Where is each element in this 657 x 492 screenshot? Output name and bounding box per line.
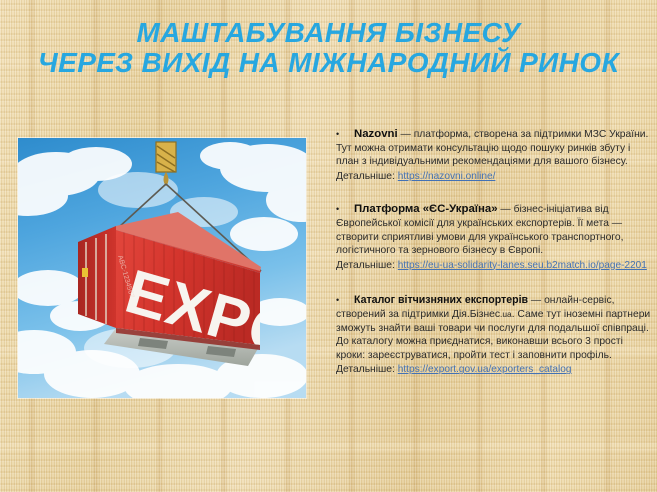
bullet-marker-icon: • bbox=[336, 203, 354, 217]
bullet-marker-icon: • bbox=[336, 128, 354, 142]
list-item: •Платформа «ЄС-Україна» — бізнес-ініціат… bbox=[336, 203, 654, 272]
detail-line: Детальніше: https://export.gov.ua/export… bbox=[336, 363, 654, 377]
door-lock bbox=[82, 268, 88, 277]
detail-label: Детальніше: bbox=[336, 171, 395, 182]
page-title: МАШТАБУВАННЯ БІЗНЕСУ ЧЕРЕЗ ВИХІД НА МІЖН… bbox=[0, 18, 657, 78]
export-container-image: EXPORT ABC-1234567 bbox=[18, 138, 306, 398]
title-line-2: ЧЕРЕЗ ВИХІД НА МІЖНАРОДНИЙ РИНОК bbox=[0, 48, 657, 78]
detail-label: Детальніше: bbox=[336, 364, 395, 375]
detail-line: Детальніше: https://eu-ua-solidarity-lan… bbox=[336, 259, 654, 273]
detail-line: Детальніше: https://nazovni.online/ bbox=[336, 170, 654, 184]
detail-link[interactable]: https://eu-ua-solidarity-lanes.seu.b2mat… bbox=[398, 260, 647, 271]
detail-link[interactable]: https://export.gov.ua/exporters_catalog bbox=[398, 364, 572, 375]
bullet-list: •Nazovni — платформа, створена за підтри… bbox=[336, 128, 654, 393]
list-item: •Nazovni — платформа, створена за підтри… bbox=[336, 128, 654, 183]
bullet-text-domain-suffix: .ua bbox=[500, 309, 512, 319]
detail-label: Детальніше: bbox=[336, 260, 395, 271]
slide-canvas: МАШТАБУВАННЯ БІЗНЕСУ ЧЕРЕЗ ВИХІД НА МІЖН… bbox=[0, 0, 657, 492]
list-item: •Каталог вітчизняних експортерів — онлай… bbox=[336, 294, 654, 377]
export-container-illustration: EXPORT ABC-1234567 bbox=[18, 138, 306, 398]
bullet-lead: Nazovni bbox=[354, 128, 398, 140]
title-line-1: МАШТАБУВАННЯ БІЗНЕСУ bbox=[0, 18, 657, 48]
detail-link[interactable]: https://nazovni.online/ bbox=[398, 171, 496, 182]
bullet-lead: Платформа «ЄС-Україна» bbox=[354, 203, 498, 215]
bullet-marker-icon: • bbox=[336, 294, 354, 308]
bullet-lead: Каталог вітчизняних експортерів bbox=[354, 294, 528, 306]
